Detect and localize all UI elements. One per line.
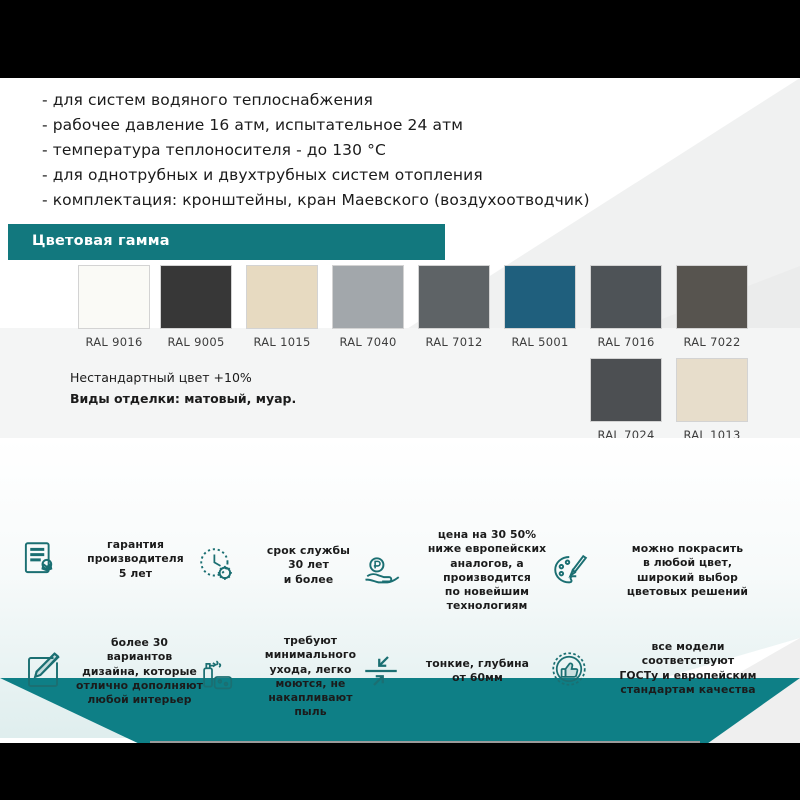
feature-label: все моделисоответствуютГОСТу и европейск… (598, 640, 778, 697)
color-swatch-chip[interactable] (590, 265, 662, 329)
feature-label-line: аналогов, а (412, 557, 562, 571)
color-swatch-chip[interactable] (676, 358, 748, 422)
color-swatch-chip[interactable] (246, 265, 318, 329)
feature-item: более 30вариантовдизайна, которыеотлично… (22, 636, 207, 707)
feature-item: гарантияпроизводителя5 лет (18, 538, 203, 581)
feature-label-line: и более (246, 573, 371, 587)
feature-label: тонкие, глубинаот 60мм (410, 657, 545, 686)
feature-label-line: 5 лет (68, 567, 203, 581)
feature-label-line: тонкие, глубина (410, 657, 545, 671)
feature-label-line: в любой цвет, (600, 556, 775, 570)
color-swatch[interactable]: RAL 7012 (418, 265, 490, 349)
note-finish-types: Виды отделки: матовый, муар. (70, 389, 296, 410)
feature-label-line: пыль (248, 705, 373, 719)
feature-label-line: стандартам качества (598, 683, 778, 697)
feature-label-line: от 60мм (410, 671, 545, 685)
feature-item: требуютминимальногоухода, легкомоются, н… (198, 634, 373, 720)
color-swatch-chip[interactable] (332, 265, 404, 329)
color-swatch[interactable]: RAL 7024 (590, 358, 662, 442)
color-swatch-chip[interactable] (160, 265, 232, 329)
feature-label-line: моются, не (248, 677, 373, 691)
color-swatch[interactable]: RAL 7022 (676, 265, 748, 349)
color-swatch-chip[interactable] (590, 358, 662, 422)
feature-label-line: ухода, легко (248, 663, 373, 677)
feature-label-line: дизайна, которые (72, 665, 207, 679)
feature-label-line: по новейшим (412, 585, 562, 599)
color-swatch-chip[interactable] (418, 265, 490, 329)
feature-label-line: 30 лет (246, 558, 371, 572)
feature-label-line: соответствуют (598, 654, 778, 668)
feature-label-line: цветовых решений (600, 585, 775, 599)
feature-label-line: ГОСТу и европейским (598, 669, 778, 683)
color-swatch[interactable]: RAL 9005 (160, 265, 232, 349)
spec-item: - температура теплоносителя - до 130 °C (42, 138, 662, 163)
color-range-banner: Цветовая гамма (8, 224, 445, 260)
feature-label: гарантияпроизводителя5 лет (68, 538, 203, 581)
color-swatch[interactable]: RAL 7040 (332, 265, 404, 349)
feature-label-line: срок службы (246, 544, 371, 558)
hand-ruble-icon (362, 550, 404, 592)
feature-item: срок службы30 лети более (196, 544, 371, 587)
feature-item: цена на 30 50%ниже европейскиханалогов, … (362, 528, 562, 614)
color-note: Нестандартный цвет +10% Виды отделки: ма… (70, 368, 296, 409)
specs-list: - для систем водяного теплоснабжения - р… (42, 88, 662, 214)
slide-canvas: - для систем водяного теплоснабжения - р… (0, 78, 800, 743)
color-swatch-label: RAL 7022 (676, 335, 748, 349)
feature-label-line: производителя (68, 552, 203, 566)
feature-label: можно покраситьв любой цвет,широкий выбо… (600, 542, 775, 599)
feature-item: тонкие, глубинаот 60мм (360, 650, 545, 692)
feature-item: можно покраситьв любой цвет,широкий выбо… (550, 542, 775, 599)
color-swatch-chip[interactable] (676, 265, 748, 329)
color-swatch-label: RAL 7012 (418, 335, 490, 349)
compress-arrows-icon (360, 650, 402, 692)
feature-label: более 30вариантовдизайна, которыеотлично… (72, 636, 207, 707)
palette-brush-icon (550, 550, 592, 592)
feature-label-line: накапливают (248, 691, 373, 705)
feature-label-line: цена на 30 50% (412, 528, 562, 542)
color-swatch[interactable]: RAL 9016 (78, 265, 150, 349)
color-swatch[interactable]: RAL 1013 (676, 358, 748, 442)
color-swatch-label: RAL 5001 (504, 335, 576, 349)
pencil-icon (22, 651, 64, 693)
color-range-title: Цветовая гамма (32, 233, 170, 249)
spec-item: - для систем водяного теплоснабжения (42, 88, 662, 113)
color-swatch[interactable]: RAL 1015 (246, 265, 318, 349)
color-swatch-label: RAL 7016 (590, 335, 662, 349)
feature-label: цена на 30 50%ниже европейскиханалогов, … (412, 528, 562, 614)
color-swatch[interactable]: RAL 5001 (504, 265, 576, 349)
color-swatch-label: RAL 1015 (246, 335, 318, 349)
spec-item: - рабочее давление 16 атм, испытательное… (42, 113, 662, 138)
feature-label-line: более 30 (72, 636, 207, 650)
feature-item: все моделисоответствуютГОСТу и европейск… (548, 640, 778, 697)
feature-label-line: минимального (248, 648, 373, 662)
color-swatch-chip[interactable] (78, 265, 150, 329)
feature-label: срок службы30 лети более (246, 544, 371, 587)
feature-label-line: ниже европейских (412, 542, 562, 556)
feature-label-line: вариантов (72, 650, 207, 664)
color-swatch-label: RAL 9016 (78, 335, 150, 349)
clock-gear-icon (196, 544, 238, 586)
feature-label-line: любой интерьер (72, 693, 207, 707)
spec-item: - для однотрубных и двухтрубных систем о… (42, 163, 662, 188)
spray-sponge-icon (198, 656, 240, 698)
feature-label-line: можно покрасить (600, 542, 775, 556)
feature-label-line: технологиям (412, 599, 562, 613)
spec-item: - комплектация: кронштейны, кран Маевско… (42, 188, 662, 213)
bottom-band-edge (150, 741, 700, 743)
color-swatch-label: RAL 9005 (160, 335, 232, 349)
feature-label-line: гарантия (68, 538, 203, 552)
color-swatch[interactable]: RAL 7016 (590, 265, 662, 349)
feature-label-line: все модели (598, 640, 778, 654)
thumbs-up-badge-icon (548, 648, 590, 690)
color-swatch-label: RAL 7040 (332, 335, 404, 349)
feature-label-line: отлично дополняют (72, 679, 207, 693)
note-nonstandard-color: Нестандартный цвет +10% (70, 368, 296, 389)
feature-label: требуютминимальногоухода, легкомоются, н… (248, 634, 373, 720)
color-swatch-row-primary: RAL 9016RAL 9005RAL 1015RAL 7040RAL 7012… (0, 265, 800, 360)
feature-label-line: требуют (248, 634, 373, 648)
certificate-icon (18, 538, 60, 580)
color-swatch-chip[interactable] (504, 265, 576, 329)
feature-label-line: производится (412, 571, 562, 585)
feature-label-line: широкий выбор (600, 571, 775, 585)
